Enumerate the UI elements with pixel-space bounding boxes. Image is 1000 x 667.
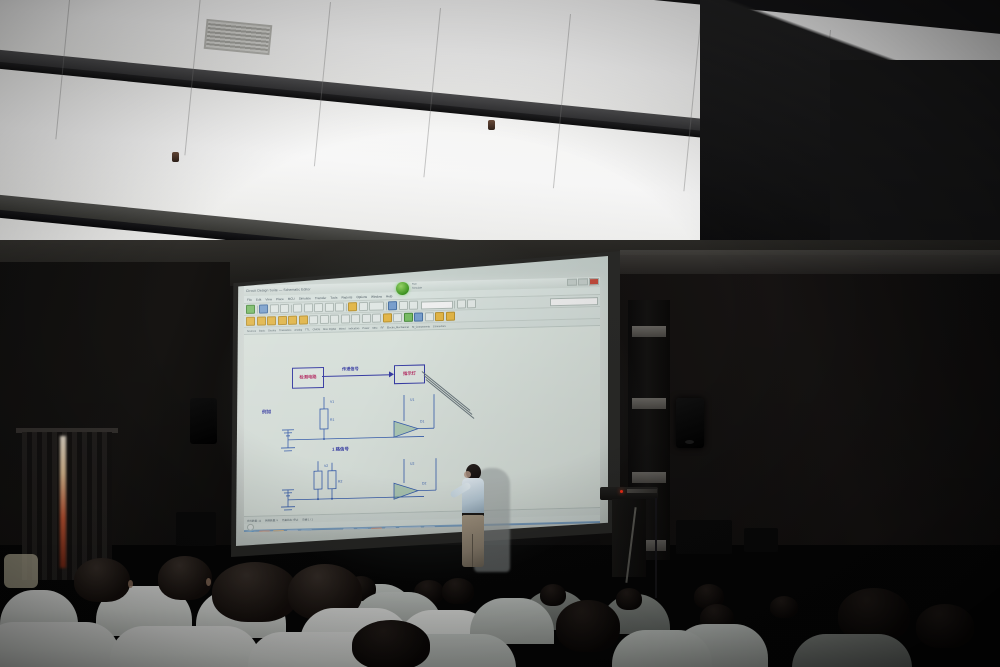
pillar-light-band	[632, 472, 666, 483]
grid-icon[interactable]	[457, 299, 466, 308]
tab-analog[interactable]: Analog	[294, 328, 302, 331]
diode-component-icon[interactable]	[288, 316, 297, 325]
wall-speaker-left	[190, 398, 217, 444]
bus-icon[interactable]	[435, 312, 444, 321]
open-file-icon[interactable]	[259, 304, 268, 313]
taskbar-item-extra[interactable]	[385, 527, 396, 532]
signal-arrow-line	[322, 374, 392, 377]
presenter-face	[464, 471, 471, 478]
capacitor-component-icon[interactable]	[267, 316, 276, 325]
audience-ear	[206, 578, 211, 586]
paste-icon[interactable]	[314, 303, 323, 312]
taskbar-item-folder[interactable]	[273, 530, 284, 532]
svg-text:V2: V2	[324, 464, 328, 468]
wire-icon[interactable]	[446, 312, 455, 321]
simulate-label: Simulate	[412, 286, 422, 290]
connector-icon[interactable]	[414, 312, 423, 321]
analog-component-icon[interactable]	[309, 315, 318, 324]
toolbar-separator	[454, 300, 455, 308]
audience-head	[556, 600, 620, 652]
pillar-light-band	[632, 326, 666, 337]
hierarchical-block-icon[interactable]	[425, 312, 434, 321]
channel-1-schematic: V1 R1 U1 D1	[274, 391, 464, 454]
zoom-area-icon[interactable]	[369, 301, 384, 310]
tab-transistors[interactable]: Transistors	[279, 328, 291, 331]
cut-icon[interactable]	[293, 304, 302, 313]
pillar-light-band	[632, 398, 666, 409]
arrow-label-transmit-signal: 传递信号	[342, 366, 359, 372]
tab-mixed[interactable]: Mixed	[339, 327, 346, 330]
svg-text:U2: U2	[410, 462, 414, 466]
menu-item-help[interactable]: Help	[386, 294, 392, 298]
redo-icon[interactable]	[335, 302, 344, 311]
svg-text:D1: D1	[420, 419, 424, 423]
lectern-light-strip	[627, 489, 657, 493]
toolbar-separator	[346, 303, 347, 311]
pause-icon[interactable]	[399, 301, 408, 310]
right-wall-upper-band	[620, 250, 1000, 274]
lecture-hall-photo: Circuit Design Suite — Schematic Editor …	[0, 0, 1000, 667]
menu-item-simulate[interactable]: Simulate	[299, 296, 311, 300]
status-page: 页面 1 / 1	[302, 517, 313, 521]
tab-misc[interactable]: Misc	[373, 326, 378, 329]
menu-item-options[interactable]: Options	[356, 294, 367, 298]
menu-item-edit[interactable]: Edit	[256, 297, 261, 301]
channel-2-schematic: V2 R2 U2 D2	[274, 457, 464, 514]
tab-electro-mechanical[interactable]: Electro_Mechanical	[387, 325, 409, 329]
minimize-button[interactable]	[567, 279, 577, 286]
window-controls[interactable]	[567, 278, 599, 286]
audience-head	[352, 620, 430, 667]
power-component-icon[interactable]	[372, 314, 381, 323]
tab-ni-components[interactable]: NI_Components	[412, 325, 430, 328]
sprinkler-head-icon	[172, 152, 179, 162]
status-indicator-icon	[247, 523, 254, 530]
start-button-icon[interactable]	[246, 531, 256, 532]
menu-item-file[interactable]: File	[247, 297, 252, 301]
audience-head	[442, 578, 474, 604]
status-component-count: 元件数量: 12	[247, 518, 261, 522]
close-button[interactable]	[589, 278, 599, 285]
audience-head	[212, 562, 298, 622]
svg-text:V1: V1	[330, 400, 334, 404]
audience-ear	[128, 580, 133, 588]
menu-item-reports[interactable]: Reports	[341, 295, 352, 299]
svg-text:D2: D2	[422, 481, 426, 485]
rf-component-icon[interactable]	[393, 313, 402, 322]
tab-misc-digital[interactable]: Misc Digital	[323, 327, 336, 330]
audience-head	[74, 558, 130, 602]
transistor-component-icon[interactable]	[299, 315, 308, 324]
tab-cmos[interactable]: CMOS	[313, 328, 321, 331]
audience-head	[540, 584, 566, 606]
taskbar-item-active-window[interactable]	[399, 527, 421, 532]
block-detection-circuit: 检测电路	[292, 367, 324, 389]
inductor-component-icon[interactable]	[278, 316, 287, 325]
toolbar-separator	[386, 302, 387, 310]
audience-head	[616, 588, 642, 610]
misc-component-icon[interactable]	[383, 313, 392, 322]
indicator-component-icon[interactable]	[362, 314, 371, 323]
taskbar-item-browser[interactable]	[259, 530, 270, 532]
example-label: 例如	[262, 409, 271, 415]
power-led-icon	[620, 490, 623, 493]
svg-text:R2: R2	[338, 480, 342, 484]
tab-indicators[interactable]: Indicators	[349, 327, 360, 330]
menu-item-window[interactable]: Window	[371, 294, 382, 298]
sprinkler-head-icon	[488, 120, 495, 130]
toolbar-separator	[291, 304, 292, 312]
style-combo[interactable]	[421, 300, 453, 309]
app-window-title: Circuit Design Suite — Schematic Editor	[246, 287, 311, 293]
status-sim-state: 仿真状态: 停止	[282, 517, 298, 521]
taskbar-item-extra2[interactable]	[424, 526, 435, 532]
seat-back	[0, 622, 120, 667]
menu-item-transfer[interactable]: Transfer	[315, 295, 326, 299]
taskbar-sep	[343, 528, 354, 532]
audience-head	[158, 556, 212, 600]
copy-icon[interactable]	[304, 303, 313, 312]
svg-text:R1: R1	[330, 418, 334, 422]
source-component-icon[interactable]	[246, 317, 255, 326]
taskbar-item-mail[interactable]	[301, 529, 312, 532]
print-icon[interactable]	[280, 304, 289, 313]
menu-item-view[interactable]: View	[265, 297, 272, 301]
undo-icon[interactable]	[325, 303, 334, 312]
menu-item-place[interactable]: Place	[276, 296, 284, 300]
ceiling	[0, 0, 1000, 265]
tab-basic[interactable]: Basic	[259, 329, 265, 332]
tab-rf[interactable]: RF	[381, 326, 384, 329]
audience-head	[770, 596, 798, 618]
zoom-in-icon[interactable]	[348, 302, 357, 311]
right-upper-wall	[830, 60, 1000, 265]
status-net-count: 网络数量: 9	[265, 518, 278, 522]
resistor-component-icon[interactable]	[257, 316, 266, 325]
electromechanical-icon[interactable]	[404, 313, 413, 322]
toolbar-spacer	[456, 313, 598, 317]
schematic-canvas[interactable]: 检测电路 传递信号 指示灯 例如 1 路信号	[244, 326, 600, 516]
menu-item-tools[interactable]: Tools	[330, 295, 337, 299]
projection-screen: Circuit Design Suite — Schematic Editor …	[236, 256, 608, 546]
mixed-component-icon[interactable]	[351, 314, 360, 323]
svg-text:U1: U1	[410, 398, 414, 402]
tab-connectors[interactable]: Connectors	[433, 324, 446, 327]
stop-icon[interactable]	[409, 301, 418, 310]
new-file-icon[interactable]	[246, 305, 255, 314]
misc-digital-icon[interactable]	[341, 314, 350, 323]
seat-back	[110, 626, 260, 667]
seat-back	[792, 634, 912, 667]
maximize-button[interactable]	[578, 278, 588, 285]
tab-diodes[interactable]: Diodes	[268, 329, 276, 332]
air-vent-icon	[204, 19, 273, 55]
seat-back	[612, 630, 712, 667]
properties-icon[interactable]	[467, 299, 476, 308]
search-input[interactable]	[550, 297, 598, 306]
tab-ttl[interactable]: TTL	[305, 328, 309, 331]
tab-power[interactable]: Power	[362, 326, 369, 329]
projected-application[interactable]: Circuit Design Suite — Schematic Editor …	[244, 277, 600, 532]
block-indicator-light: 指示灯	[394, 364, 425, 384]
zoom-out-icon[interactable]	[359, 302, 368, 311]
wall-speaker-right	[676, 398, 704, 448]
audience-head	[916, 604, 974, 648]
toolbar-separator	[257, 305, 258, 313]
seated-audience	[0, 548, 1000, 667]
save-icon[interactable]	[270, 304, 279, 313]
tab-sources[interactable]: Sources	[247, 329, 256, 332]
taskbar-item-player[interactable]	[357, 528, 368, 532]
run-simulation-label: Run Simulate	[412, 282, 422, 290]
audience-figure-left	[4, 554, 38, 588]
run-icon[interactable]	[388, 301, 397, 310]
taskbar-item-app[interactable]	[371, 528, 382, 532]
ttl-component-icon[interactable]	[320, 315, 329, 324]
cmos-component-icon[interactable]	[330, 315, 339, 324]
toolbar-spacer	[478, 302, 549, 304]
stage-equipment	[176, 512, 216, 546]
menu-item-mcu[interactable]: MCU	[288, 296, 295, 300]
taskbar-item-document[interactable]	[287, 530, 298, 532]
